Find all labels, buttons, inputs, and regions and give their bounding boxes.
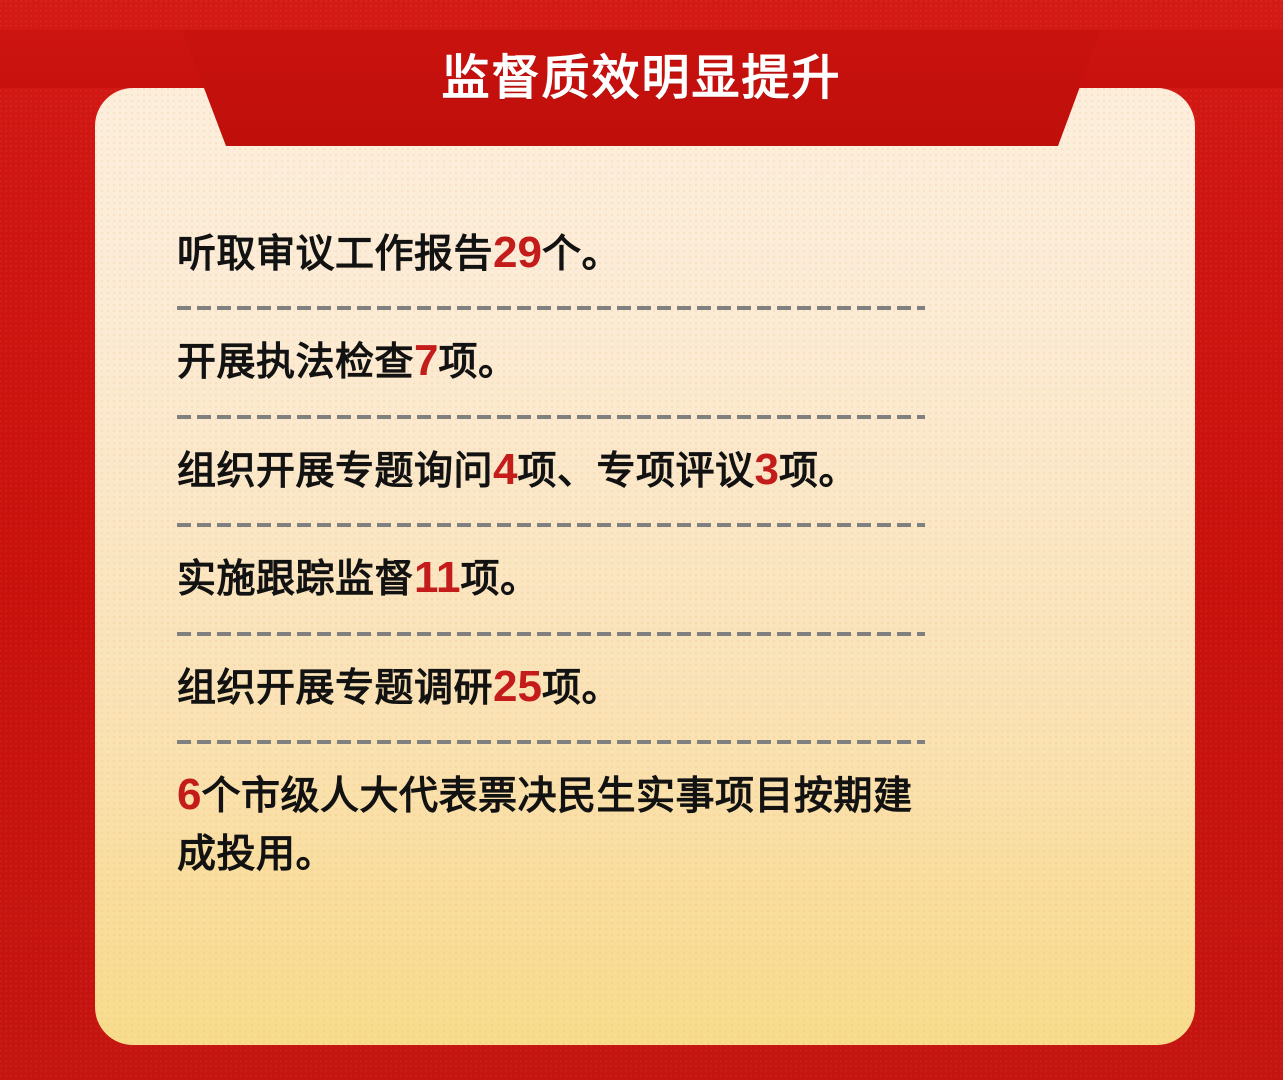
entry-number: 29 bbox=[493, 228, 542, 277]
title-banner: 监督质效明显提升 bbox=[0, 30, 1283, 146]
entry-suffix: 项。 bbox=[439, 341, 518, 384]
list-item: 实施跟踪监督11项。 bbox=[177, 543, 925, 635]
list-item: 组织开展专题询问4项、专项评议3项。 bbox=[177, 435, 925, 527]
entry-number: 6 bbox=[177, 770, 201, 819]
entry-suffix: 项、专项评议 bbox=[518, 450, 755, 493]
poster-root: 听取审议工作报告29个。 开展执法检查7项。 组织开展专题询问4项、专项评议3项… bbox=[0, 0, 1283, 1080]
list-item-text-4: 实施跟踪监督11项。 bbox=[177, 543, 925, 615]
entry-number-secondary: 3 bbox=[755, 445, 779, 494]
list-item-text-2: 开展执法检查7项。 bbox=[177, 326, 925, 398]
list-item-text-6: 6个市级人大代表票决民生实事项目按期建成投用。 bbox=[177, 760, 925, 888]
content-card: 听取审议工作报告29个。 开展执法检查7项。 组织开展专题询问4项、专项评议3项… bbox=[95, 88, 1195, 1045]
list-divider bbox=[177, 523, 925, 527]
entry-prefix: 组织开展专题询问 bbox=[177, 450, 493, 493]
list-item-text-3: 组织开展专题询问4项、专项评议3项。 bbox=[177, 435, 925, 507]
list-item: 开展执法检查7项。 bbox=[177, 326, 925, 418]
list-item-text-1: 听取审议工作报告29个。 bbox=[177, 218, 925, 290]
entry-suffix-secondary: 项。 bbox=[779, 450, 858, 493]
page-title: 监督质效明显提升 bbox=[0, 30, 1283, 146]
entry-prefix: 听取审议工作报告 bbox=[177, 233, 493, 276]
list-item-text-5: 组织开展专题调研25项。 bbox=[177, 652, 925, 724]
list-divider bbox=[177, 306, 925, 310]
entry-prefix: 实施跟踪监督 bbox=[177, 558, 414, 601]
entry-prefix: 开展执法检查 bbox=[177, 341, 414, 384]
list-item: 6个市级人大代表票决民生实事项目按期建成投用。 bbox=[177, 760, 925, 888]
list-item: 组织开展专题调研25项。 bbox=[177, 652, 925, 744]
entry-prefix: 组织开展专题调研 bbox=[177, 667, 493, 710]
entry-number: 25 bbox=[493, 662, 542, 711]
list-item: 听取审议工作报告29个。 bbox=[177, 218, 925, 310]
statistics-list: 听取审议工作报告29个。 开展执法检查7项。 组织开展专题询问4项、专项评议3项… bbox=[177, 218, 925, 888]
entry-number: 11 bbox=[414, 553, 461, 602]
entry-number: 4 bbox=[493, 445, 517, 494]
entry-suffix: 项。 bbox=[542, 667, 621, 710]
entry-suffix: 项。 bbox=[461, 558, 540, 601]
list-divider bbox=[177, 740, 925, 744]
list-divider bbox=[177, 415, 925, 419]
entry-number: 7 bbox=[414, 336, 438, 385]
list-divider bbox=[177, 632, 925, 636]
entry-suffix: 个市级人大代表票决民生实事项目按期建成投用。 bbox=[177, 775, 913, 875]
entry-suffix: 个。 bbox=[542, 233, 621, 276]
